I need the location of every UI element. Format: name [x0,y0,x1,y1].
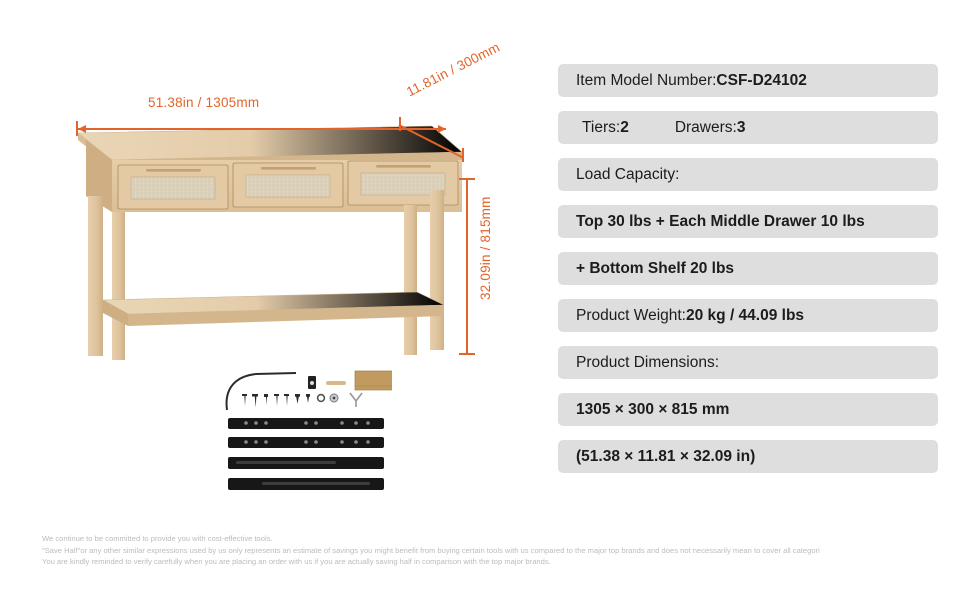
spec-label-load-capacity: Load Capacity: [576,166,679,184]
spec-value-load-capacity-shelf: + Bottom Shelf 20 lbs [576,260,734,278]
spec-label-product-dimensions: Product Dimensions: [576,354,719,372]
spec-value-drawers: 3 [737,119,746,137]
spec-row-dimensions-in: (51.38 × 11.81 × 32.09 in) [558,440,938,473]
hardware-parts-illustration [222,368,392,503]
height-dimension-line [466,178,468,355]
wooden-dowel-icon [326,381,346,385]
spec-row-product-dimensions-heading: Product Dimensions: [558,346,938,379]
spec-row-dimensions-mm: 1305 × 300 × 815 mm [558,393,938,426]
width-dimension-label: 51.38in / 1305mm [148,95,259,110]
spec-label-tiers: Tiers: [582,119,620,137]
drawer-slide-rails [228,418,384,490]
spec-row-load-capacity-heading: Load Capacity: [558,158,938,191]
spec-value-load-capacity-top: Top 30 lbs + Each Middle Drawer 10 lbs [576,213,865,231]
footer-line-1: We continue to be committed to provide y… [42,533,970,545]
footer-disclaimer: We continue to be committed to provide y… [42,533,970,568]
height-dimension-label: 32.09in / 815mm [478,196,493,300]
spec-value-tiers: 2 [620,119,629,137]
spec-label-product-weight: Product Weight: [576,307,686,325]
cardboard-box-icon [355,371,392,390]
spec-row-model-number: Item Model Number: CSF-D24102 [558,64,938,97]
depth-dimension-cap-right [462,148,464,162]
power-cable-icon [227,373,296,410]
spec-value-dimensions-mm: 1305 × 300 × 815 mm [576,401,729,419]
width-dimension-line [76,128,446,130]
product-image-panel: 51.38in / 1305mm 11.81in / 300mm 32.09in… [0,0,540,520]
spec-label-drawers: Drawers: [675,119,737,137]
depth-dimension-cap-left [399,117,401,131]
height-dimension-cap-top [459,178,475,180]
spec-value-dimensions-in: (51.38 × 11.81 × 32.09 in) [576,448,755,466]
screw-row [242,393,362,408]
footer-line-2: "Save Half"or any other similar expressi… [42,545,970,557]
spec-row-product-weight: Product Weight: 20 kg / 44.09 lbs [558,299,938,332]
spec-label-model-number: Item Model Number: [576,72,716,90]
spec-value-product-weight: 20 kg / 44.09 lbs [686,307,804,325]
width-arrow-left-icon [78,125,86,133]
spec-row-load-capacity-top: Top 30 lbs + Each Middle Drawer 10 lbs [558,205,938,238]
height-dimension-cap-bottom [459,353,475,355]
footer-line-3: You are kindly reminded to verify carefu… [42,556,970,568]
spec-row-load-capacity-shelf: + Bottom Shelf 20 lbs [558,252,938,285]
width-arrow-right-icon [438,125,446,133]
spec-value-model-number: CSF-D24102 [716,72,806,90]
specification-list: Item Model Number: CSF-D24102 Tiers: 2Dr… [558,64,938,487]
spec-row-tiers-drawers: Tiers: 2Drawers: 3 [558,111,938,144]
drawer-fronts [118,161,458,209]
